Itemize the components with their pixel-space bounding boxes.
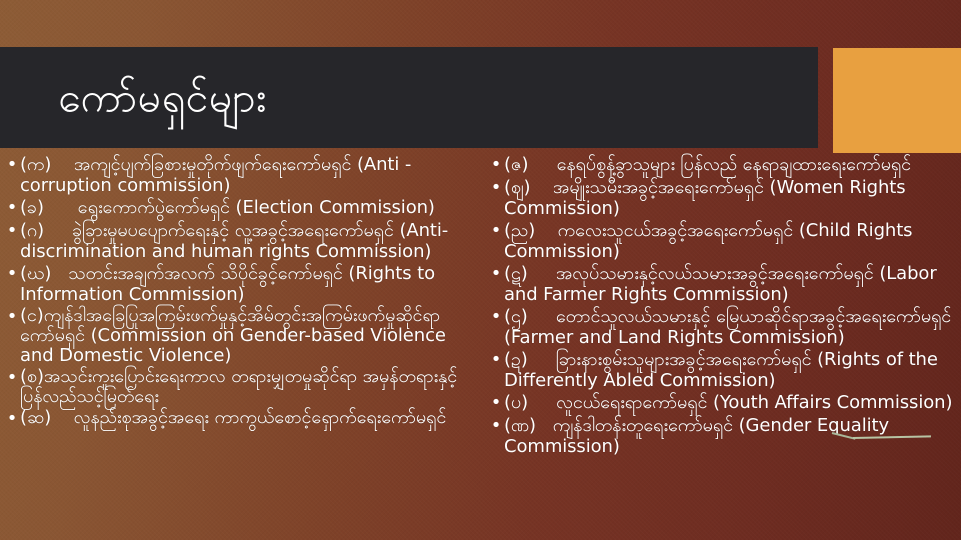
list-item[interactable]: • (ဃ) သတင်းအချက်အလက် သိပိုင်ခွင့်ကော်မရှ… xyxy=(4,263,474,305)
title-band: ကော်မရှင်များ xyxy=(0,47,818,148)
bullet-icon: • xyxy=(4,408,20,430)
bullet-icon: • xyxy=(4,306,20,328)
list-item[interactable]: • (က) အကျင့်ပျက်ခြစားမှုတိုက်ဖျက်ရေးကော်… xyxy=(4,154,474,196)
list-item[interactable]: • (ဇ) နေရပ်စွန့်ခွာသူများ ပြန်လည် နေရာချ… xyxy=(488,154,954,176)
list-item[interactable]: • (ည) ကလေးသူငယ်အခွင့်အရေးကော်မရှင် (Chil… xyxy=(488,220,954,262)
list-item-text: (ခ) ရွေးကောက်ပွဲကော်မရှင် (Election Comm… xyxy=(20,197,474,218)
bullet-icon: • xyxy=(4,367,20,389)
list-item[interactable]: • (ဌ) တောင်သူလယ်သမားနှင့် မြေယာဆိုင်ရာအခ… xyxy=(488,306,954,348)
list-item-text: (ဌ) တောင်သူလယ်သမားနှင့် မြေယာဆိုင်ရာအခွင… xyxy=(504,306,954,348)
bullet-icon: • xyxy=(488,349,504,371)
list-item-text: (ဂ) ခွဲခြားမှုမပပျောက်ရေးနှင့် လူ့အခွင့်… xyxy=(20,220,474,262)
bullet-icon: • xyxy=(4,263,20,285)
list-item-text: (ဋ) အလုပ်သမားနှင့်လယ်သမားအခွင့်အရေးကော်မ… xyxy=(504,263,954,305)
list-item-text: (စ)အသင်းကူးပြောင်းရေးကာလ တရားမျှတမှုဆိုင… xyxy=(20,367,474,407)
list-item-text: (င)ကျန်ဒါအခြေပြုအကြမ်းဖက်မှုနှင့်အိမ်တွင… xyxy=(20,306,474,366)
bullet-icon: • xyxy=(488,263,504,285)
list-item-text: (ဈ) အမျိုးသမီးအခွင့်အရေးကော်မရှင် (Women… xyxy=(504,177,954,219)
bullet-icon: • xyxy=(488,392,504,414)
list-item-text: (ဃ) သတင်းအချက်အလက် သိပိုင်ခွင့်ကော်မရှင်… xyxy=(20,263,474,305)
list-item-text: (ည) ကလေးသူငယ်အခွင့်အရေးကော်မရှင် (Child … xyxy=(504,220,954,262)
list-item[interactable]: • (ဈ) အမျိုးသမီးအခွင့်အရေးကော်မရှင် (Wom… xyxy=(488,177,954,219)
left-column: • (က) အကျင့်ပျက်ခြစားမှုတိုက်ဖျက်ရေးကော်… xyxy=(0,150,480,540)
accent-block xyxy=(833,48,961,153)
bullet-icon: • xyxy=(488,154,504,176)
list-item[interactable]: • (ဍ) ခြားနားစွမ်းသူများအခွင့်အရေးကော်မရ… xyxy=(488,349,954,391)
page-title: ကော်မရှင်များ xyxy=(58,76,267,119)
list-item[interactable]: • (ပ) လူငယ်ရေးရာကော်မရှင် (Youth Affairs… xyxy=(488,392,954,414)
list-item[interactable]: • (ခ) ရွေးကောက်ပွဲကော်မရှင် (Election Co… xyxy=(4,197,474,219)
bullet-icon: • xyxy=(4,220,20,242)
list-item-text: (ဇ) နေရပ်စွန့်ခွာသူများ ပြန်လည် နေရာချထာ… xyxy=(504,154,954,175)
bullet-icon: • xyxy=(488,220,504,242)
right-column: • (ဇ) နေရပ်စွန့်ခွာသူများ ပြန်လည် နေရာချ… xyxy=(480,150,960,540)
content-area: • (က) အကျင့်ပျက်ခြစားမှုတိုက်ဖျက်ရေးကော်… xyxy=(0,150,961,540)
list-item-text: (ဆ) လူနည်းစုအခွင့်အရေး ကာကွယ်စောင့်ရှောက… xyxy=(20,408,474,428)
bullet-icon: • xyxy=(4,197,20,219)
list-item[interactable]: • (ဋ) အလုပ်သမားနှင့်လယ်သမားအခွင့်အရေးကော… xyxy=(488,263,954,305)
list-item[interactable]: • (င)ကျန်ဒါအခြေပြုအကြမ်းဖက်မှုနှင့်အိမ်တ… xyxy=(4,306,474,366)
list-item[interactable]: • (စ)အသင်းကူးပြောင်းရေးကာလ တရားမျှတမှုဆိ… xyxy=(4,367,474,407)
bullet-icon: • xyxy=(488,177,504,199)
list-item[interactable]: • (ဆ) လူနည်းစုအခွင့်အရေး ကာကွယ်စောင့်ရှေ… xyxy=(4,408,474,430)
bullet-icon: • xyxy=(488,306,504,328)
list-item-text: (က) အကျင့်ပျက်ခြစားမှုတိုက်ဖျက်ရေးကော်မရ… xyxy=(20,154,474,196)
bullet-icon: • xyxy=(4,154,20,176)
list-item-text: (ဍ) ခြားနားစွမ်းသူများအခွင့်အရေးကော်မရှင… xyxy=(504,349,954,391)
list-item-text: (ပ) လူငယ်ရေးရာကော်မရှင် (Youth Affairs C… xyxy=(504,392,954,413)
bullet-icon: • xyxy=(488,415,504,437)
slide: ကော်မရှင်များ • (က) အကျင့်ပျက်ခြစားမှုတိ… xyxy=(0,0,961,540)
list-item[interactable]: • (ဂ) ခွဲခြားမှုမပပျောက်ရေးနှင့် လူ့အခွင… xyxy=(4,220,474,262)
